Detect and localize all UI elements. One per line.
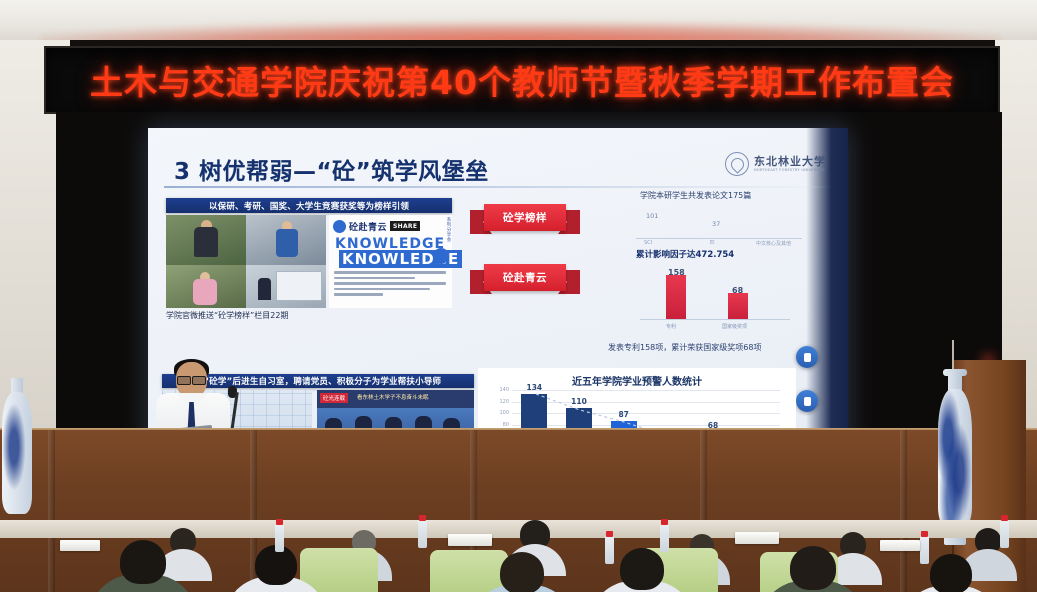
photo-student-1 xyxy=(166,215,246,265)
water-bottle xyxy=(418,520,427,548)
presenter-glasses-icon xyxy=(177,376,206,383)
photo-student-2 xyxy=(246,215,326,265)
share-badge: SHARE xyxy=(390,221,420,231)
classroom-tag-secondary: 看东林土木学子不息奋斗未眠 xyxy=(357,393,429,401)
impact-bar-1 xyxy=(666,275,686,319)
chair-cover xyxy=(300,548,378,592)
audience-table xyxy=(0,520,1037,538)
water-bottle xyxy=(275,524,284,552)
water-bottle xyxy=(605,536,614,564)
stats-headline-2: 累计影响因子达472.754 xyxy=(636,248,734,260)
audience-head xyxy=(930,554,972,592)
ribbon-banner-2: 砼赴青云 xyxy=(470,264,580,294)
title-divider xyxy=(164,186,832,188)
led-banner-text: 土木与交通学院庆祝第40个教师节暨秋季学期工作布置会 xyxy=(46,48,998,112)
mini-tick-other: 中文核心及其他 xyxy=(756,240,791,247)
impact-bar-label-1: 专利 xyxy=(666,323,676,330)
chart-y-tick: 120 xyxy=(499,399,509,405)
audience-head xyxy=(790,546,836,590)
conference-room-photo: 土木与交通学院庆祝第40个教师节暨秋季学期工作布置会 3 树优帮弱—“砼”筑学风… xyxy=(0,0,1037,592)
ribbon-label-2: 砼赴青云 xyxy=(484,264,566,291)
stats-headline-1: 学院本研学生共发表论文175篇 xyxy=(640,190,751,201)
impact-bar-2 xyxy=(728,293,748,319)
slide-title: 3 树优帮弱—“砼”筑学风堡垒 xyxy=(174,152,489,186)
slide-titlebar: 3 树优帮弱—“砼”筑学风堡垒 东北林业大学 NORTHEAST FORESTR… xyxy=(148,138,848,184)
water-bottle xyxy=(660,524,669,552)
slide-float-button-2[interactable] xyxy=(796,390,818,412)
desk-nameplate xyxy=(735,532,779,544)
article-body-text xyxy=(334,271,446,299)
patents-awards-note: 发表专利158项，累计荣获国家级奖项68项 xyxy=(608,342,761,353)
article-header: 砼赴青云 SHARE xyxy=(333,218,448,234)
classroom-tag: 砼光连载 xyxy=(320,393,348,403)
photo-student-3 xyxy=(166,265,246,308)
logo-name-en: NORTHEAST FORESTRY UNIVERSITY xyxy=(754,169,826,173)
university-emblem-icon xyxy=(725,152,749,176)
account-avatar-icon xyxy=(333,220,346,233)
slide-float-button-1[interactable] xyxy=(796,346,818,368)
mini-tick-ei: EI xyxy=(710,240,715,246)
led-banner: 土木与交通学院庆祝第40个教师节暨秋季学期工作布置会 xyxy=(44,46,1000,114)
desk-nameplate xyxy=(60,540,100,551)
decorative-dot xyxy=(433,248,449,264)
publications-mini-chart: 101 37 SCI EI 中文核心及其他 xyxy=(628,202,808,246)
upper-left-banner: 以保研、考研、国奖、大学生竞赛获奖等为榜样引领 xyxy=(166,198,452,213)
chair-cover xyxy=(430,550,508,592)
university-logo: 东北林业大学 NORTHEAST FORESTRY UNIVERSITY xyxy=(725,152,826,176)
mini-value-sci: 101 xyxy=(646,212,658,220)
ribbon-label-1: 砼学榜样 xyxy=(484,204,566,231)
mini-value-ei: 37 xyxy=(712,220,720,228)
impact-bar-value-1: 158 xyxy=(668,268,685,277)
audience-head xyxy=(500,552,544,592)
water-bottle xyxy=(920,536,929,564)
audience-head xyxy=(620,548,664,590)
audience-head xyxy=(120,540,166,584)
impact-bar-value-2: 68 xyxy=(732,286,743,295)
wechat-article-card: 砼赴青云 SHARE 系列分享会 KNOWLEDGE KNOWLEDGE xyxy=(329,215,452,308)
mini-tick-sci: SCI xyxy=(644,240,652,246)
impact-bar-label-2: 国家级奖项 xyxy=(722,323,747,330)
photo-lecture xyxy=(246,265,326,308)
upper-left-caption: 学院官微推送“砼学榜样”栏目22期 xyxy=(166,310,331,321)
water-bottle xyxy=(1000,520,1009,548)
porcelain-vase-left xyxy=(2,378,32,528)
upper-left-block: 以保研、考研、国奖、大学生竞赛获奖等为榜样引领 砼赴青云 SHARE 系列分享会… xyxy=(166,198,452,326)
desk-nameplate xyxy=(880,540,920,551)
chart-y-tick: 140 xyxy=(499,387,509,393)
article-side-text: 系列分享会 xyxy=(445,217,451,242)
impact-factor-chart: 158 专利 68 国家级奖项 xyxy=(636,260,796,330)
upper-right-stats: 学院本研学生共发表论文175篇 101 37 SCI EI 中文核心及其他 累计… xyxy=(614,190,832,338)
desk-nameplate xyxy=(448,534,492,546)
ribbon-banner-1: 砼学榜样 xyxy=(470,204,580,234)
chart-y-tick: 100 xyxy=(499,410,509,416)
logo-name-cn: 东北林业大学 xyxy=(754,156,826,167)
article-title: 砼赴青云 xyxy=(349,220,387,233)
upper-left-photo-collage xyxy=(166,215,326,308)
